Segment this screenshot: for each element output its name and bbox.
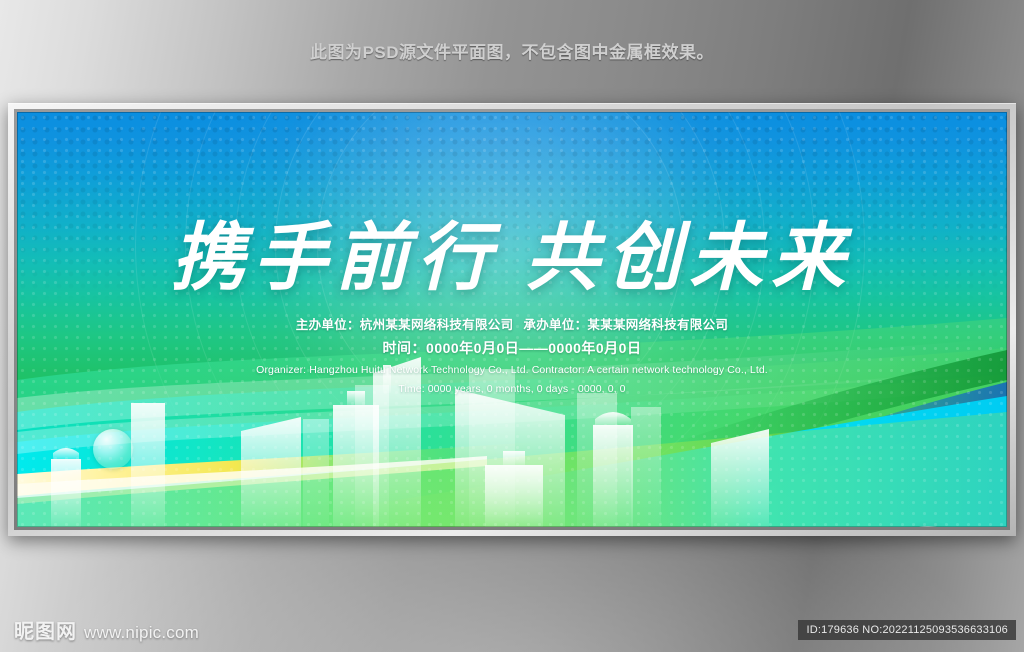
organizer-line-en: Organizer: Hangzhou Huitu Network Techno… xyxy=(17,364,1007,376)
site-watermark: 昵图网 www.nipic.com xyxy=(14,615,199,644)
banner-subtext-block: 主办单位：杭州某某网络科技有限公司承办单位：某某某网络科技有限公司 时间：000… xyxy=(17,314,1007,395)
contractor-label-cn: 承办单位： xyxy=(523,318,587,332)
headline-part-2: 共创未来 xyxy=(525,215,853,301)
organizer-value-cn: 杭州某某网络科技有限公司 xyxy=(360,318,514,332)
organizer-label-cn: 主办单位： xyxy=(296,318,360,332)
time-line-en: Time: 0000 years, 0 months, 0 days - 000… xyxy=(17,383,1007,395)
headline-part-1: 携手前行 xyxy=(171,215,499,301)
metallic-frame-inner: 携手前行共创未来 主办单位：杭州某某网络科技有限公司承办单位：某某某网络科技有限… xyxy=(14,109,1010,530)
banner-headline: 携手前行共创未来 xyxy=(17,198,1007,305)
psd-source-note: 此图为PSD源文件平面图，不包含图中金属框效果。 xyxy=(0,0,1024,100)
id-badge: ID:179636 NO:20221125093536633106 xyxy=(798,620,1016,640)
banner-artboard: 携手前行共创未来 主办单位：杭州某某网络科技有限公司承办单位：某某某网络科技有限… xyxy=(17,112,1007,527)
watermark-url: www.nipic.com xyxy=(84,623,199,643)
metallic-frame-outer: 携手前行共创未来 主办单位：杭州某某网络科技有限公司承办单位：某某某网络科技有限… xyxy=(8,103,1016,536)
time-line-cn: 时间：0000年0月0日——0000年0月0日 xyxy=(17,338,1007,358)
contractor-value-cn: 某某某网络科技有限公司 xyxy=(587,318,728,332)
organizer-line-cn: 主办单位：杭州某某网络科技有限公司承办单位：某某某网络科技有限公司 xyxy=(17,314,1007,333)
watermark-logo-cn: 昵图网 xyxy=(14,615,77,644)
